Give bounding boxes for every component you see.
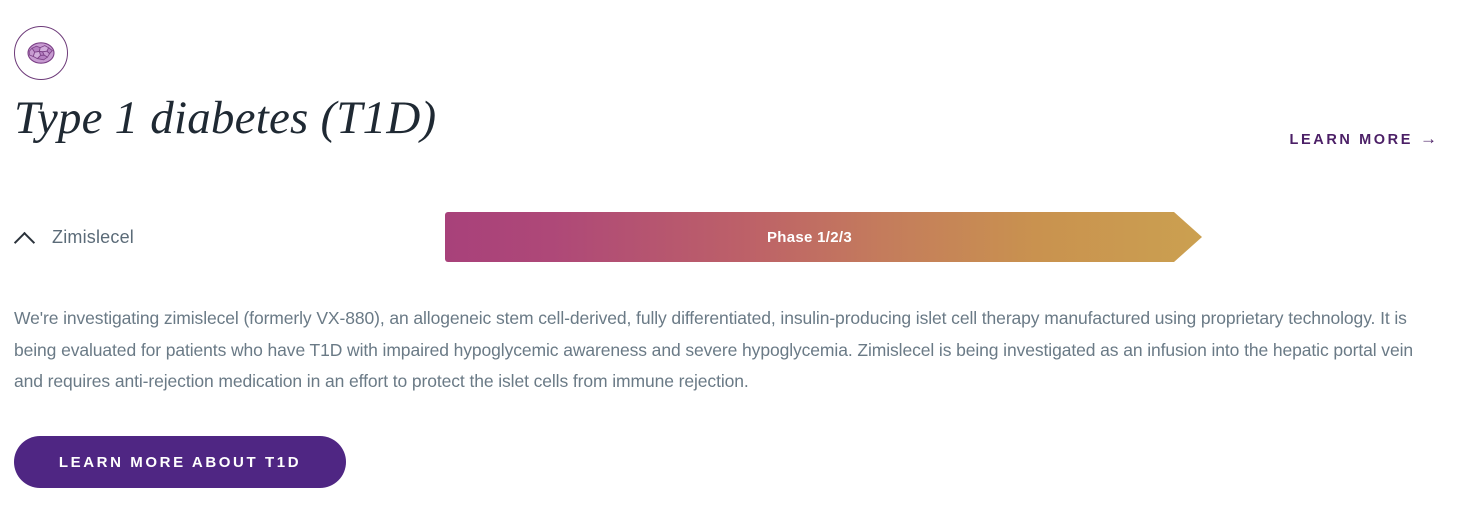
phase-progress-bar: Phase 4 Phase 1/2/3 (445, 212, 1461, 262)
program-row: Zimislecel Phase 4 Phase 1/2/3 (0, 212, 1461, 262)
phase-segment-phase-1-2-3: Phase 1/2/3 (445, 212, 1202, 262)
program-name: Zimislecel (52, 227, 134, 248)
program-description: We're investigating zimislecel (formerly… (14, 303, 1442, 398)
phase-segment-label: Phase 1/2/3 (767, 229, 852, 246)
learn-more-about-t1d-button[interactable]: LEARN MORE ABOUT T1D (14, 436, 346, 488)
learn-more-link[interactable]: LEARN MORE → (1290, 131, 1437, 148)
arrow-right-icon: → (1420, 130, 1437, 147)
chevron-up-icon[interactable] (14, 231, 36, 244)
islet-cell-icon (14, 26, 68, 80)
phase-segment-label: Phase 4 (1276, 229, 1335, 246)
page-title: Type 1 diabetes (T1D) (14, 94, 436, 143)
program-toggle-zimislecel[interactable]: Zimislecel (14, 212, 134, 262)
phase-segment-phase-4: Phase 4 (1178, 212, 1461, 262)
learn-more-label: LEARN MORE (1290, 132, 1413, 148)
